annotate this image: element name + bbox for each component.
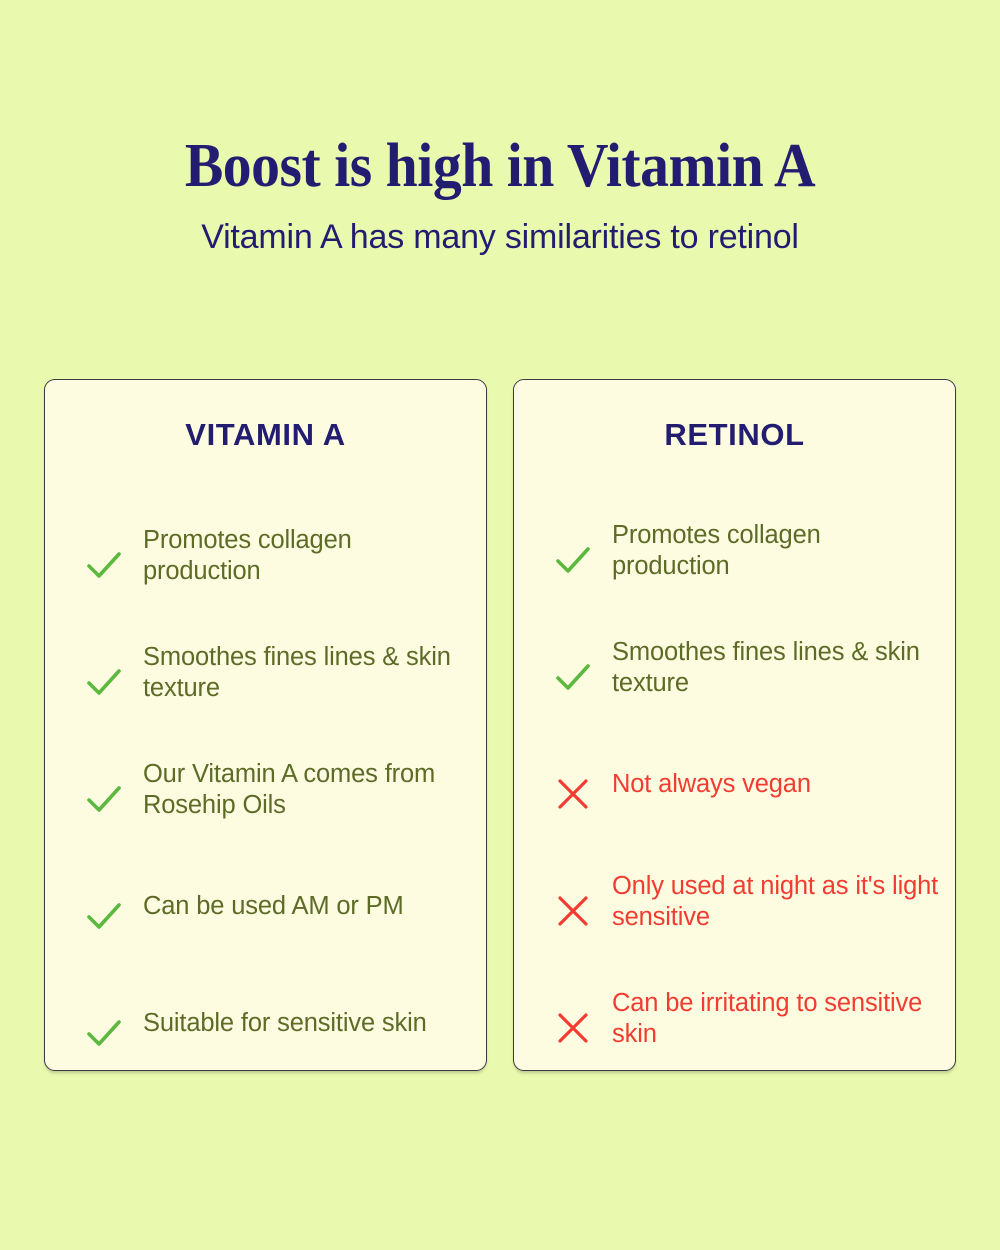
list-item-label: Only used at night as it's light sensiti…	[612, 871, 939, 933]
card-vitamin-a: VITAMIN A Promotes collagen production	[44, 379, 487, 1071]
card-title-retinol: RETINOL	[514, 380, 955, 454]
list-item: Our Vitamin A comes from Rosehip Oils	[45, 732, 488, 849]
check-icon	[81, 776, 127, 822]
list-item: Smoothes fines lines & skin texture	[45, 615, 488, 732]
benefit-list-vitamin-a: Promotes collagen production Smoothes fi…	[45, 488, 488, 1082]
comparison-infographic: Boost is high in Vitamin A Vitamin A has…	[0, 0, 1000, 1250]
check-icon	[550, 654, 596, 700]
check-icon	[81, 1010, 127, 1056]
page-subtitle: Vitamin A has many similarities to retin…	[0, 202, 1000, 258]
list-item-label: Can be irritating to sensitive skin	[612, 988, 939, 1050]
cross-icon	[550, 1005, 596, 1051]
benefit-list-retinol: Promotes collagen production Smoothes fi…	[514, 488, 957, 1077]
list-item-label: Can be used AM or PM	[143, 891, 470, 922]
list-item-label: Our Vitamin A comes from Rosehip Oils	[143, 759, 470, 821]
comparison-cards: VITAMIN A Promotes collagen production	[44, 379, 956, 1073]
list-item: Only used at night as it's light sensiti…	[514, 843, 957, 960]
list-item: Smoothes fines lines & skin texture	[514, 610, 957, 727]
page-header: Boost is high in Vitamin A Vitamin A has…	[0, 0, 1000, 258]
list-item: Suitable for sensitive skin	[45, 965, 488, 1082]
list-item-label: Smoothes fines lines & skin texture	[143, 642, 470, 704]
list-item: Can be irritating to sensitive skin	[514, 960, 957, 1077]
list-item: Promotes collagen production	[45, 498, 488, 615]
list-item-label: Not always vegan	[612, 769, 939, 800]
check-icon	[81, 542, 127, 588]
cross-icon	[550, 771, 596, 817]
page-title: Boost is high in Vitamin A	[35, 0, 965, 202]
list-item: Can be used AM or PM	[45, 848, 488, 965]
check-icon	[81, 659, 127, 705]
list-item-label: Promotes collagen production	[143, 525, 470, 587]
check-icon	[550, 537, 596, 583]
list-item: Promotes collagen production	[514, 493, 957, 610]
cross-icon	[550, 888, 596, 934]
list-item: Not always vegan	[514, 727, 957, 844]
card-title-vitamin-a: VITAMIN A	[45, 380, 486, 454]
check-icon	[81, 893, 127, 939]
list-item-label: Promotes collagen production	[612, 520, 939, 582]
card-retinol: RETINOL Promotes collagen production	[513, 379, 956, 1071]
list-item-label: Suitable for sensitive skin	[143, 1008, 470, 1039]
list-item-label: Smoothes fines lines & skin texture	[612, 637, 939, 699]
